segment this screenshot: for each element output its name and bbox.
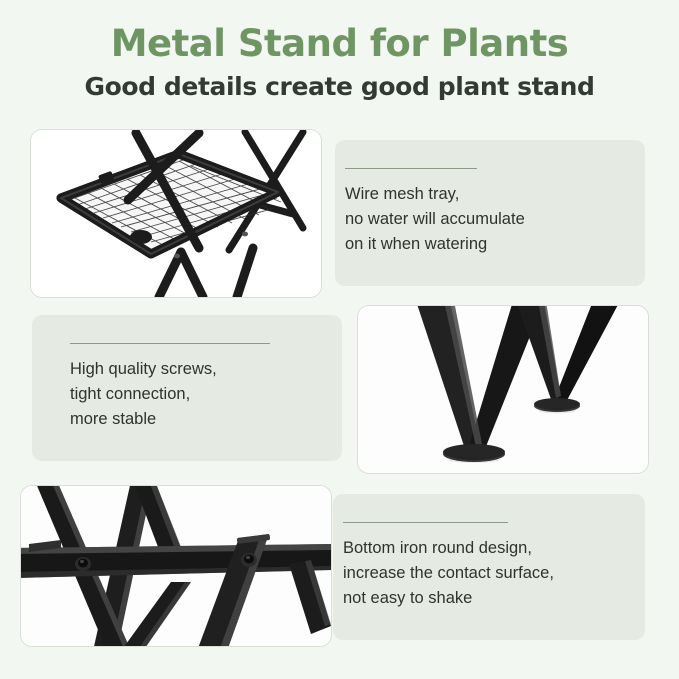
feature-divider-rule [345,168,477,169]
infographic-page: Metal Stand for Plants Good details crea… [0,0,679,679]
feature-divider-rule [343,522,508,523]
feature-description-wire-mesh-tray: Wire mesh tray, no water will accumulate… [345,182,637,257]
feature-photo-cross-bar-screw-joint [20,485,332,647]
v-shaped-legs-illustration [358,306,648,473]
feature-description-bottom-iron-round-design: Bottom iron round design, increase the c… [343,536,643,611]
feature-description-high-quality-screws: High quality screws, tight connection, m… [70,357,332,432]
feature-photo-wire-mesh-tray [30,129,322,298]
feature-photo-v-shaped-legs [357,305,649,474]
feature-divider-rule [70,343,270,344]
page-title: Metal Stand for Plants [0,0,679,66]
cross-bar-screw-joint-illustration [21,486,331,646]
wire-mesh-tray-illustration [31,130,321,297]
page-subtitle: Good details create good plant stand [0,66,679,102]
header: Metal Stand for Plants Good details crea… [0,0,679,102]
